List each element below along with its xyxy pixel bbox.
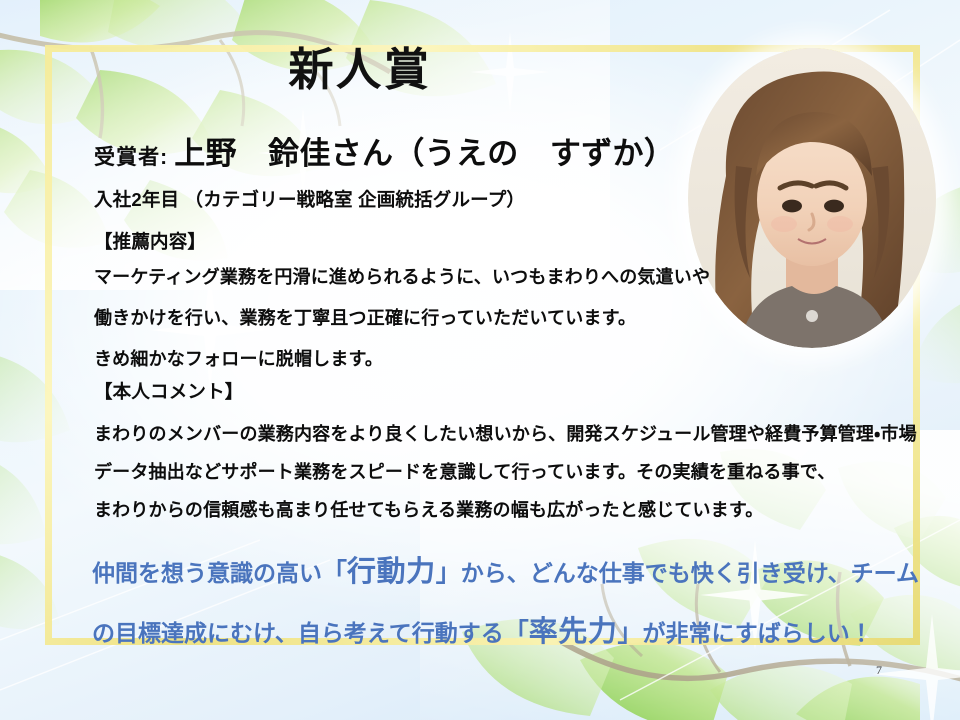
page-title: 新人賞	[0, 46, 720, 93]
page-number: 7	[876, 663, 882, 678]
summary-open-quote: 「	[504, 618, 529, 647]
summary-line-1: 仲間を想う意識の高い「行動力」から、どんな仕事でも快く引き受け、チーム	[92, 548, 919, 590]
summary-post: が非常にすばらしい！	[642, 621, 872, 647]
summary-post: から、どんな仕事でも快く引き受け、チーム	[461, 561, 919, 587]
comment-line: データ抽出などサポート業務をスピードを意識して行っています。その実績を重ねる事で…	[94, 458, 835, 484]
summary-open-quote: 「	[322, 558, 347, 587]
award-recipient-line: 受賞者: 上野 鈴佳さん（うえの すずか）	[94, 128, 675, 173]
recommendation-line: マーケティング業務を円滑に進められるように、いつもまわりへの気遣いや	[94, 263, 710, 289]
comment-heading: 【本人コメント】	[94, 378, 243, 404]
summary-emphasis: 行動力	[347, 554, 436, 588]
comment-line: まわりのメンバーの業務内容をより良くしたい想いから、開発スケジュール管理や経費予…	[94, 420, 917, 446]
portrait-illustration	[688, 48, 936, 348]
comment-line: まわりからの信頼感も高まり任せてもらえる業務の幅も広がったと感じています。	[94, 496, 763, 522]
portrait-photo	[688, 48, 936, 348]
avatar	[688, 48, 936, 348]
summary-line-2: の目標達成にむけ、自ら考えて行動する「率先力」が非常にすばらしい！	[92, 608, 873, 650]
award-recipient-label: 受賞者:	[94, 141, 168, 171]
summary-close-quote: 」	[617, 618, 642, 647]
slide-canvas: 新人賞 受賞者: 上野 鈴佳さん（うえの すずか） 入社2年目 （カテゴリー戦略…	[0, 0, 960, 720]
recommendation-line: きめ細かなフォローに脱帽します。	[94, 345, 383, 371]
recommendation-heading: 【推薦内容】	[94, 228, 206, 254]
summary-pre: 仲間を想う意識の高い	[92, 561, 322, 587]
summary-emphasis: 率先力	[529, 614, 618, 648]
summary-close-quote: 」	[436, 558, 461, 587]
award-recipient-name: 上野 鈴佳さん（うえの すずか）	[174, 128, 675, 173]
summary-pre: の目標達成にむけ、自ら考えて行動する	[92, 621, 504, 647]
recommendation-line: 働きかけを行い、業務を丁寧且つ正確に行っていただいています。	[94, 304, 636, 330]
recipient-tenure-department: 入社2年目 （カテゴリー戦略室 企画統括グループ）	[94, 186, 525, 212]
